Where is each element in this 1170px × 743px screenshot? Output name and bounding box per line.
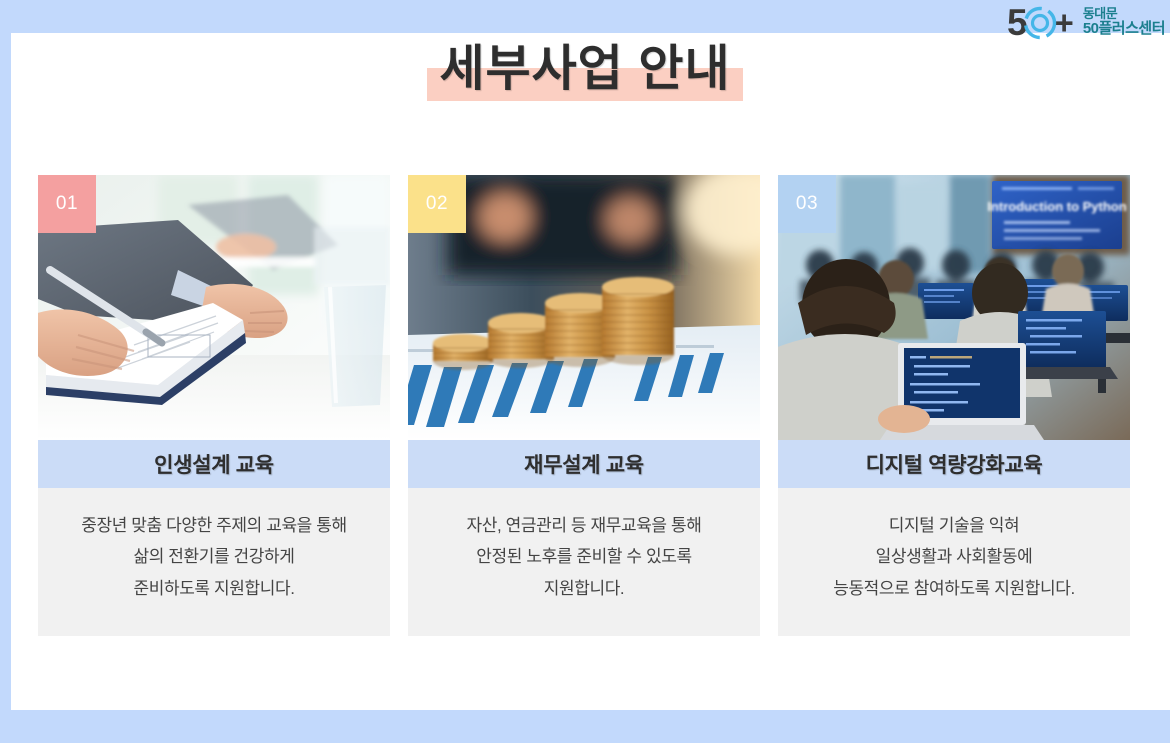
card-badge-2: 02 [408,175,466,233]
card-body-line: 일상생활과 사회활동에 [788,541,1120,572]
program-card-1: 01 인생설계 교육 중장년 맞춤 다양한 주제의 교육을 통해 삶의 전환기를… [38,175,390,636]
page-title: 세부사업 안내 [439,38,730,101]
card-title-3: 디지털 역량강화교육 [778,440,1130,488]
projector-screen-text: Introduction to Python [987,199,1126,214]
logo-wordmark: 동대문 50플러스센터 [1083,7,1165,38]
program-card-2: 02 재무설계 교육 자산, 연금관리 등 재무교육을 통해 안정된 노후를 준… [408,175,760,636]
card-title-2: 재무설계 교육 [408,440,760,488]
card-badge-3: 03 [778,175,836,233]
card-photo-3: Introduction to Python [778,175,1130,440]
card-body-line: 삶의 전환기를 건강하게 [48,541,380,572]
card-body-2: 자산, 연금관리 등 재무교육을 통해 안정된 노후를 준비할 수 있도록 지원… [408,488,760,636]
logo-mark: 5 + [1007,4,1074,41]
card-body-line: 안정된 노후를 준비할 수 있도록 [418,541,750,572]
card-body-line: 자산, 연금관리 등 재무교육을 통해 [418,510,750,541]
page-title-area: 세부사업 안내 [0,38,1170,138]
card-body-line: 능동적으로 참여하도록 지원합니다. [788,573,1120,604]
card-title-1: 인생설계 교육 [38,440,390,488]
logo-wordmark-line2: 50플러스센터 [1083,21,1165,38]
card-badge-1: 01 [38,175,96,233]
page-title-inner: 세부사업 안내 [427,38,742,101]
card-body-line: 중장년 맞춤 다양한 주제의 교육을 통해 [48,510,380,541]
circle-ring-icon [1023,6,1057,40]
card-photo-2: 02 [408,175,760,440]
logo-wordmark-line1: 동대문 [1083,7,1165,22]
card-body-3: 디지털 기술을 익혀 일상생활과 사회활동에 능동적으로 참여하도록 지원합니다… [778,488,1130,636]
program-card-3: Introduction to Python [778,175,1130,636]
logo-plus: + [1055,6,1074,39]
site-logo: 5 + 동대문 50플러스센터 [1007,4,1165,41]
card-body-line: 디지털 기술을 익혀 [788,510,1120,541]
card-body-1: 중장년 맞춤 다양한 주제의 교육을 통해 삶의 전환기를 건강하게 준비하도록… [38,488,390,636]
card-photo-1: 01 [38,175,390,440]
card-body-line: 지원합니다. [418,573,750,604]
card-body-line: 준비하도록 지원합니다. [48,573,380,604]
program-card-list: 01 인생설계 교육 중장년 맞춤 다양한 주제의 교육을 통해 삶의 전환기를… [38,175,1132,636]
